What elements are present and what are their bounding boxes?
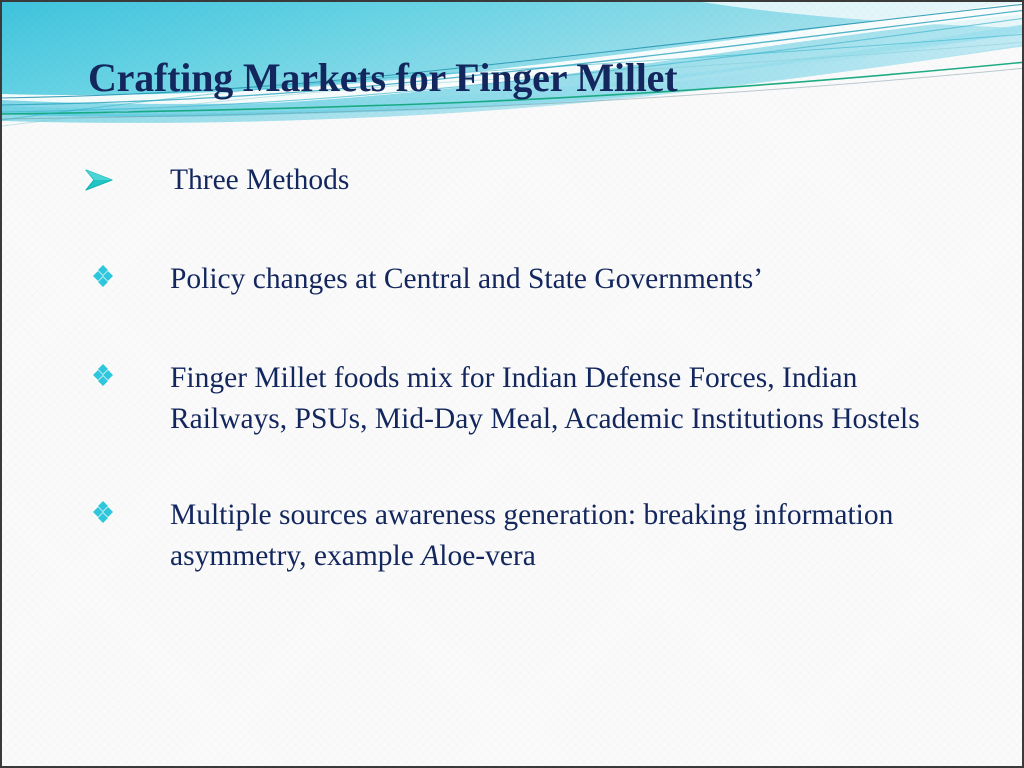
bullet-text: Multiple sources awareness generation: b… — [170, 495, 960, 577]
bullet-item: Finger Millet foods mix for Indian Defen… — [2, 358, 1024, 440]
diamond-bullet-icon — [82, 358, 124, 399]
diamond-bullet-icon — [82, 259, 124, 300]
bullet-item: Three Methods — [2, 160, 1024, 201]
bullet-text: Three Methods — [170, 160, 960, 201]
bullet-text: Policy changes at Central and State Gove… — [170, 259, 960, 300]
bullet-item: Policy changes at Central and State Gove… — [2, 259, 1024, 300]
diamond-bullet-icon — [82, 495, 124, 536]
bullet-item: Multiple sources awareness generation: b… — [2, 495, 1024, 577]
presentation-slide: Crafting Markets for Finger Millet Three… — [0, 0, 1024, 768]
slide-title: Crafting Markets for Finger Millet — [88, 54, 677, 101]
bullet-text-part: loe-vera — [439, 540, 536, 572]
arrow-bullet-icon — [82, 160, 124, 201]
bullet-text-italic-part: A — [421, 540, 439, 572]
bullet-text: Finger Millet foods mix for Indian Defen… — [170, 358, 960, 440]
bullet-spacer — [2, 201, 1024, 259]
bullet-spacer — [2, 440, 1024, 495]
slide-body: Three Methods Policy changes at Central … — [2, 160, 1024, 577]
bullet-spacer — [2, 300, 1024, 358]
